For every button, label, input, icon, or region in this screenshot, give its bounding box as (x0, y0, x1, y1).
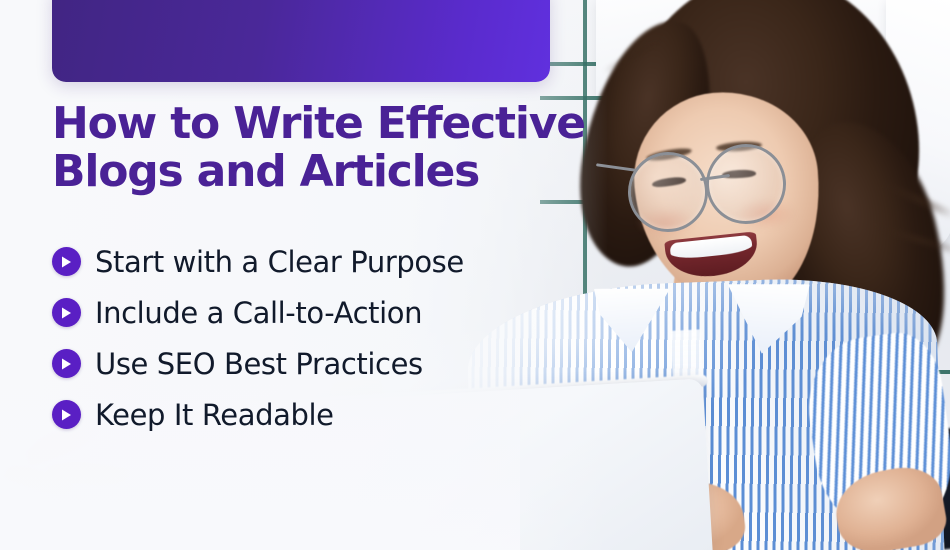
banner-content: How to Write Effective Blogs and Article… (0, 0, 950, 550)
list-item: Start with a Clear Purpose (52, 236, 464, 287)
play-circle-icon (52, 400, 81, 429)
play-circle-icon (52, 247, 81, 276)
list-item-label: Use SEO Best Practices (95, 348, 423, 380)
page-title: How to Write Effective Blogs and Article… (52, 100, 612, 196)
play-circle-icon (52, 349, 81, 378)
list-item: Include a Call-to-Action (52, 287, 464, 338)
blog-promo-banner: How to Write Effective Blogs and Article… (0, 0, 950, 550)
tips-list: Start with a Clear Purpose Include a Cal… (52, 236, 464, 440)
page-title-line-2: Blogs and Articles (52, 148, 612, 196)
page-title-line-1: How to Write Effective (52, 100, 612, 148)
list-item: Use SEO Best Practices (52, 338, 464, 389)
list-item-label: Include a Call-to-Action (95, 297, 422, 329)
play-circle-icon (52, 298, 81, 327)
list-item-label: Start with a Clear Purpose (95, 246, 464, 278)
list-item-label: Keep It Readable (95, 399, 334, 431)
list-item: Keep It Readable (52, 389, 464, 440)
purple-gradient-bar (52, 0, 550, 82)
